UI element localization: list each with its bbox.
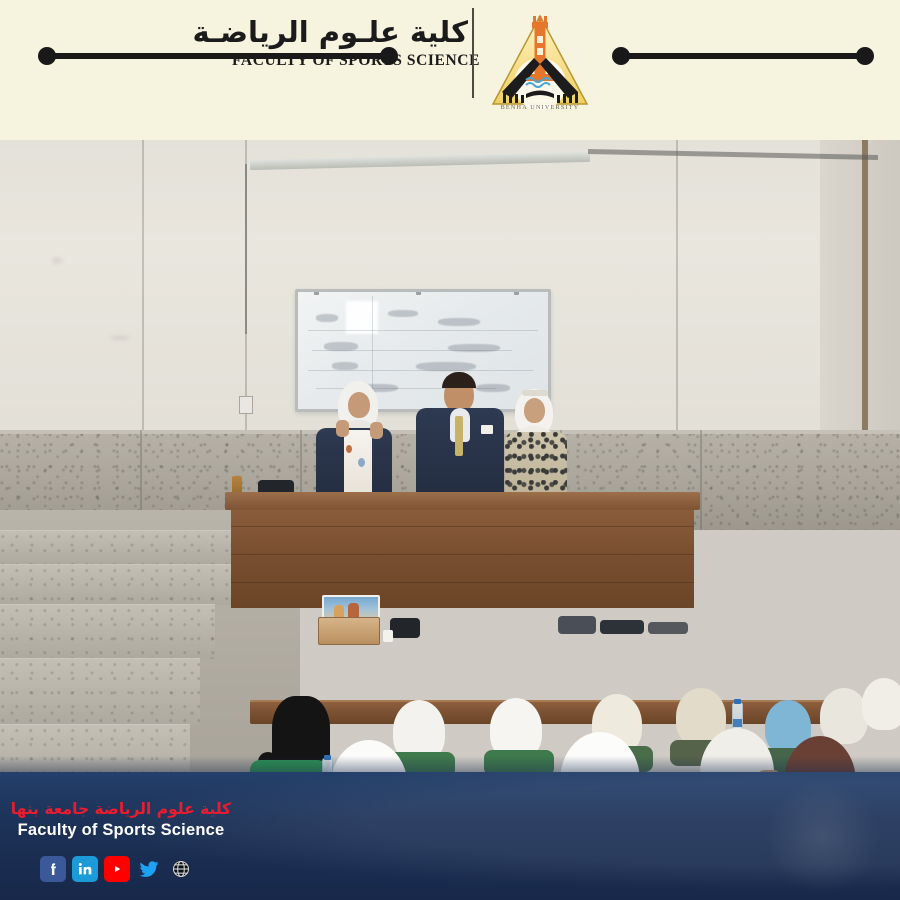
bag: [648, 622, 688, 634]
wainscot-seam: [700, 430, 702, 530]
cup: [383, 630, 393, 642]
social-media-poster: كلية علـوم الرياضـة FACULTY OF SPORTS SC…: [0, 0, 900, 900]
pocket-square: [481, 425, 493, 434]
step: [0, 564, 240, 605]
wall-seam: [142, 140, 144, 450]
facebook-icon[interactable]: [40, 856, 66, 882]
handbag: [390, 618, 420, 638]
linkedin-icon[interactable]: [72, 856, 98, 882]
face: [524, 398, 545, 423]
twitter-icon[interactable]: [136, 856, 162, 882]
decorative-rule-right: [612, 45, 874, 67]
event-photograph: [0, 140, 900, 790]
footer-faculty-name-english: Faculty of Sports Science: [6, 821, 236, 840]
banner-glow: [762, 778, 882, 898]
necktie: [455, 416, 463, 456]
social-links: [40, 856, 194, 882]
header-faculty-name-arabic: كلية علـوم الرياضـة: [232, 14, 468, 50]
student-hijab: [862, 678, 900, 730]
step: [0, 604, 215, 659]
youtube-icon[interactable]: [104, 856, 130, 882]
emblem-caption: BENHA UNIVERSITY: [501, 104, 580, 111]
desk-front-panel: [231, 510, 694, 608]
rule-bar: [621, 53, 865, 59]
hanging-wire: [245, 164, 247, 334]
laptop-bag: [558, 616, 596, 634]
whiteboard: [295, 289, 551, 412]
wall-seam: [676, 140, 678, 450]
student-hijab: [820, 688, 868, 744]
rule-dot-right: [856, 47, 874, 65]
teacher-desk: [225, 492, 700, 612]
desk-top: [225, 492, 700, 510]
footer-faculty-block: كلية علوم الرياضة جامعة بنها Faculty of …: [6, 800, 236, 840]
classroom-side-wall: [820, 140, 900, 460]
header-faculty-title: كلية علـوم الرياضـة FACULTY OF SPORTS SC…: [232, 14, 468, 70]
eyeglasses: [522, 390, 548, 396]
header-divider: [472, 8, 474, 98]
wall-mark: [52, 258, 62, 263]
gift-box: [318, 617, 380, 645]
hand: [336, 420, 349, 437]
footer-faculty-name-arabic: كلية علوم الرياضة جامعة بنها: [6, 800, 236, 819]
benha-university-emblem-icon: BENHA UNIVERSITY: [488, 12, 592, 116]
header-faculty-name-english: FACULTY OF SPORTS SCIENCE: [232, 52, 468, 70]
door-frame: [862, 140, 868, 440]
wall-mark: [110, 336, 130, 340]
wall-switch-box: [239, 396, 253, 414]
poster-header: كلية علـوم الرياضـة FACULTY OF SPORTS SC…: [0, 0, 900, 140]
face: [348, 392, 370, 418]
step: [0, 658, 200, 725]
hand: [370, 422, 383, 439]
website-icon[interactable]: [168, 856, 194, 882]
bag: [600, 620, 644, 634]
